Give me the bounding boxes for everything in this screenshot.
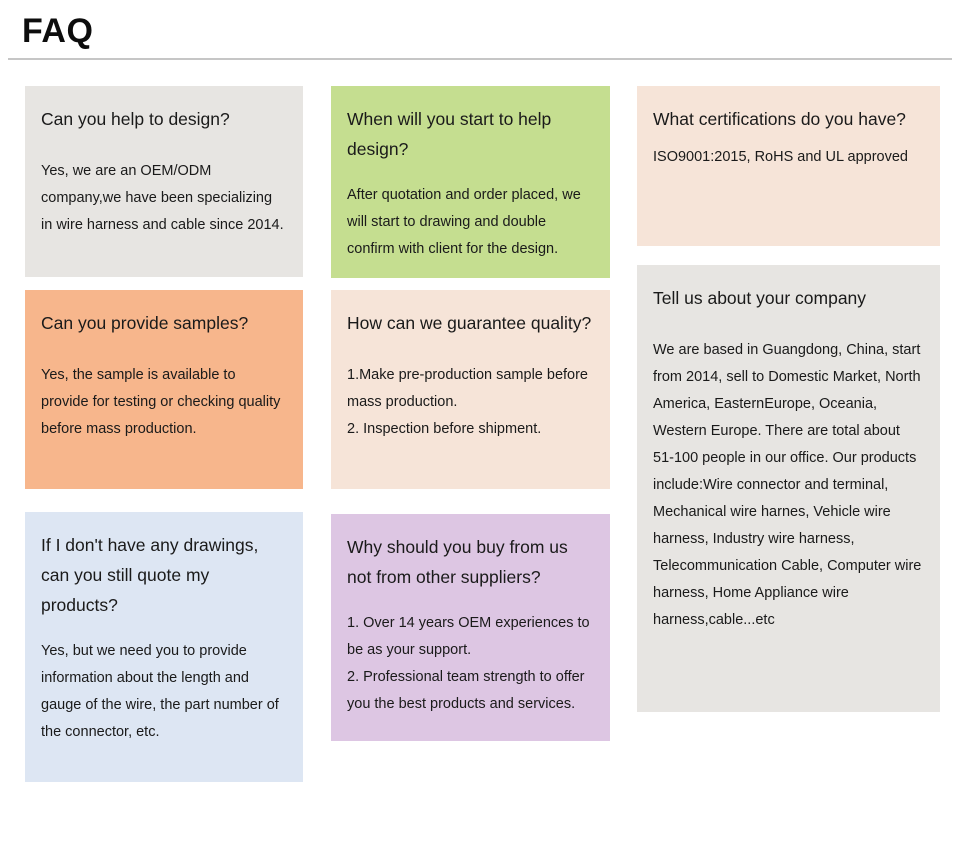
faq-question: If I don't have any drawings, can you st… [41,530,287,620]
faq-question: When will you start to help design? [347,104,594,164]
page-title: FAQ [22,10,93,52]
faq-page: FAQ Can you help to design? Yes, we are … [0,0,960,842]
faq-answer: Yes, but we need you to provide informat… [41,638,287,746]
faq-answer: Yes, we are an OEM/ODM company,we have b… [41,158,287,239]
faq-card-quality: How can we guarantee quality? 1.Make pre… [331,290,610,489]
faq-answer: After quotation and order placed, we wil… [347,182,594,263]
faq-question: Can you provide samples? [41,308,287,338]
faq-answer: Yes, the sample is available to provide … [41,362,287,443]
faq-question: What certifications do you have? [653,104,924,134]
faq-answer: We are based in Guangdong, China, start … [653,337,924,634]
faq-card-certs: What certifications do you have? ISO9001… [637,86,940,246]
faq-question: Why should you buy from us not from othe… [347,532,594,592]
faq-answer: ISO9001:2015, RoHS and UL approved [653,144,924,171]
faq-question: Can you help to design? [41,104,287,134]
faq-question: Tell us about your company [653,283,924,313]
faq-card-design: Can you help to design? Yes, we are an O… [25,86,303,277]
faq-card-drawings: If I don't have any drawings, can you st… [25,512,303,782]
faq-card-company: Tell us about your company We are based … [637,265,940,712]
title-divider [8,58,952,60]
faq-question: How can we guarantee quality? [347,308,594,338]
faq-answer: 1. Over 14 years OEM experiences to be a… [347,610,594,718]
faq-card-why-buy: Why should you buy from us not from othe… [331,514,610,741]
faq-card-samples: Can you provide samples? Yes, the sample… [25,290,303,489]
faq-card-start-design: When will you start to help design? Afte… [331,86,610,278]
faq-answer: 1.Make pre-production sample before mass… [347,362,594,443]
